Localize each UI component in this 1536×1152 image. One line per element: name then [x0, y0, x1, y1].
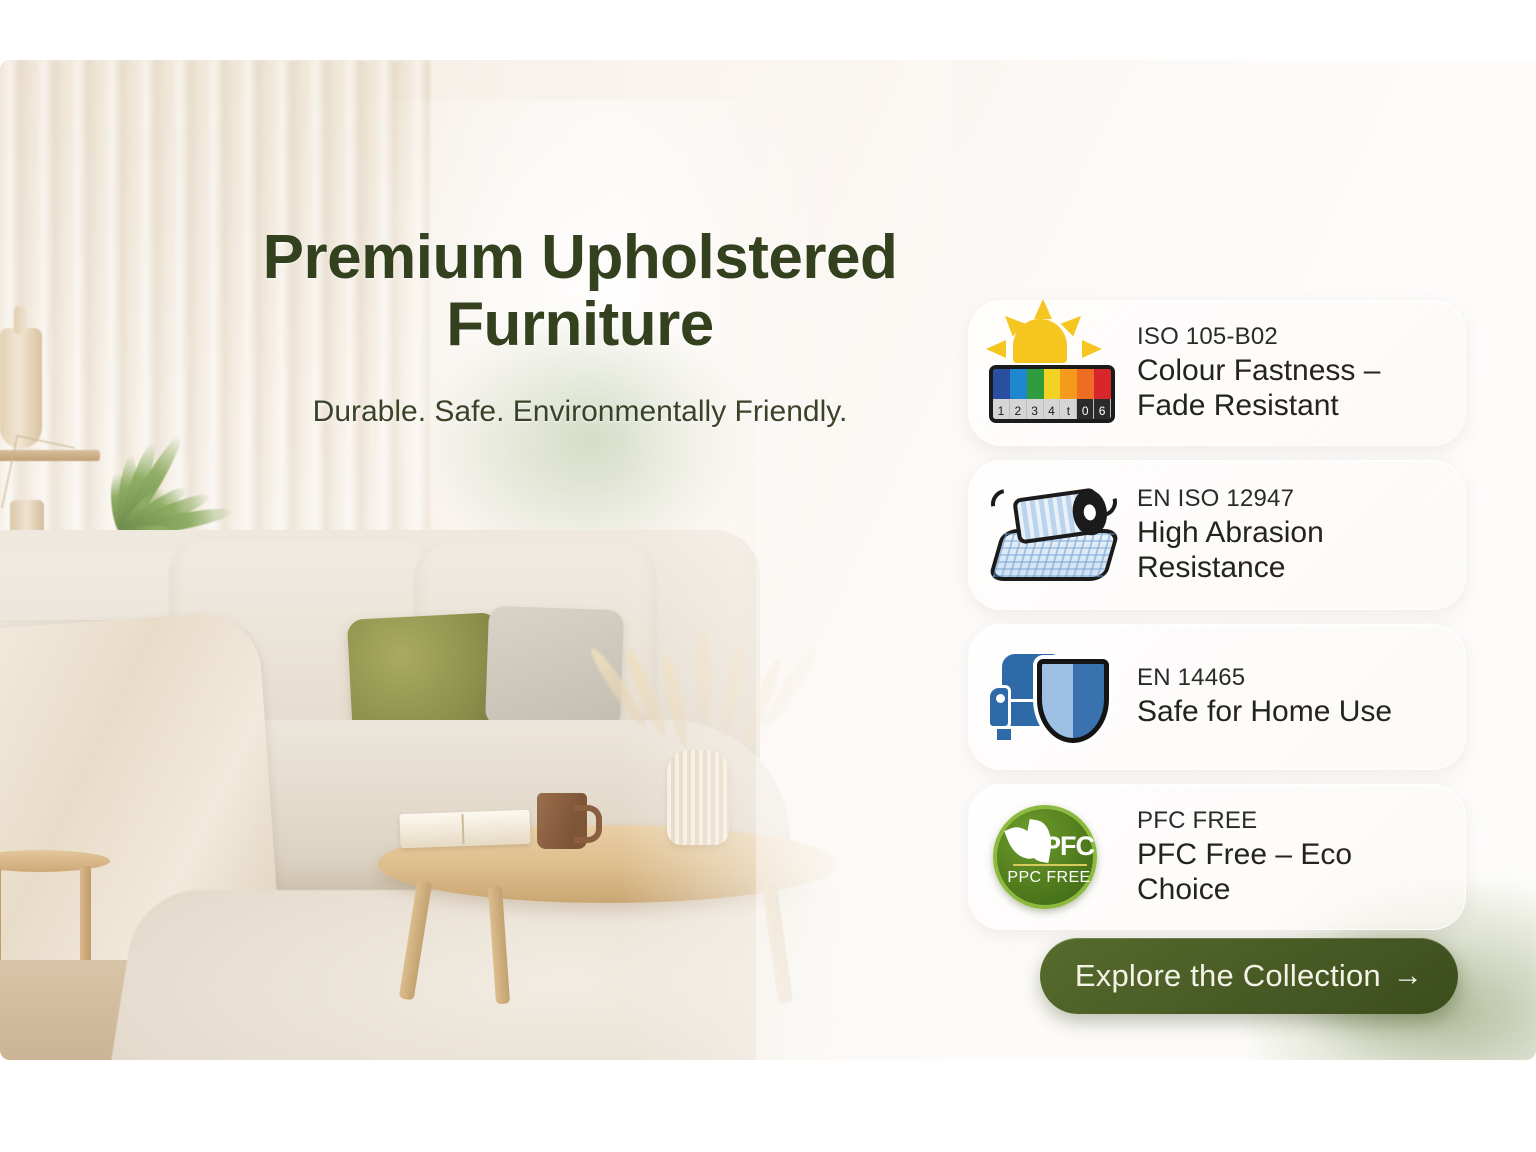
feature-card-list: 1234t06 ISO 105-B02 Colour Fastness – Fa…	[968, 300, 1466, 944]
coffee-mug	[537, 793, 587, 849]
feature-card-abrasion[interactable]: EN ISO 12947 High Abrasion Resistance	[968, 460, 1466, 610]
card-title-line-1: High Abrasion	[1137, 515, 1445, 550]
card-title-line-2: Resistance	[1137, 550, 1445, 585]
scale-number: 4	[1044, 399, 1061, 423]
feature-card-colour-fastness[interactable]: 1234t06 ISO 105-B02 Colour Fastness – Fa…	[968, 300, 1466, 446]
subheadline: Durable. Safe. Environmentally Friendly.	[200, 395, 960, 429]
scale-number: 3	[1027, 399, 1044, 423]
card-title: Safe for Home Use	[1137, 694, 1445, 729]
standard-label: EN 14465	[1137, 664, 1445, 692]
armchair-shield-icon	[989, 641, 1119, 753]
colour-scale-icon: 1234t06	[989, 365, 1115, 423]
scale-swatch	[1094, 369, 1111, 399]
armchair-arm	[987, 685, 1011, 729]
headline-line-2: Furniture	[200, 292, 960, 359]
card-title-line-2: Fade Resistant	[1137, 388, 1445, 423]
hero-banner: Premium Upholstered Furniture Durable. S…	[0, 60, 1536, 1060]
card-title: PFC Free – Eco Choice	[1137, 837, 1445, 908]
scale-number: 0	[1077, 399, 1094, 423]
shelf-vase	[0, 328, 42, 448]
standard-label: EN ISO 12947	[1137, 485, 1445, 513]
card-text: EN ISO 12947 High Abrasion Resistance	[1137, 485, 1445, 586]
page-title: Premium Upholstered Furniture	[200, 225, 960, 359]
scale-swatch	[993, 369, 1010, 399]
explore-collection-button[interactable]: Explore the Collection →	[1040, 938, 1458, 1014]
badge-divider	[1013, 864, 1087, 866]
standard-label: ISO 105-B02	[1137, 323, 1445, 351]
badge-text-small: PPC FREE	[997, 869, 1101, 887]
feature-card-safe-home-use[interactable]: EN 14465 Safe for Home Use	[968, 624, 1466, 770]
card-text: ISO 105-B02 Colour Fastness – Fade Resis…	[1137, 323, 1445, 424]
banner-page: Premium Upholstered Furniture Durable. S…	[0, 0, 1536, 1152]
card-text: EN 14465 Safe for Home Use	[1137, 664, 1445, 729]
sun-icon	[1013, 319, 1067, 363]
scale-swatch	[1027, 369, 1044, 399]
scale-number: 1	[993, 399, 1010, 423]
headline-block: Premium Upholstered Furniture Durable. S…	[200, 225, 960, 429]
armchair-foot	[997, 729, 1011, 740]
abrasion-roller-icon	[989, 479, 1119, 591]
scale-number: 2	[1010, 399, 1027, 423]
feature-card-pfc-free[interactable]: PFC PPC FREE PFC FREE PFC Free – Eco Cho…	[968, 784, 1466, 930]
pfc-free-badge-icon: PFC PPC FREE	[989, 801, 1119, 913]
headline-line-1: Premium Upholstered	[200, 225, 960, 292]
card-title-line-1: Colour Fastness –	[1137, 353, 1445, 388]
standard-label: PFC FREE	[1137, 807, 1445, 835]
pfc-badge: PFC PPC FREE	[993, 805, 1097, 909]
scale-number: t	[1060, 399, 1077, 423]
sun-colour-scale-icon: 1234t06	[989, 317, 1119, 429]
scale-swatch	[1060, 369, 1077, 399]
cta-label: Explore the Collection	[1075, 958, 1381, 994]
open-book	[399, 810, 530, 849]
scale-number: 6	[1094, 399, 1111, 423]
scale-swatch	[1077, 369, 1094, 399]
scale-swatch	[1010, 369, 1027, 399]
shield-icon	[1037, 659, 1109, 743]
card-text: PFC FREE PFC Free – Eco Choice	[1137, 807, 1445, 908]
scale-swatch	[1044, 369, 1061, 399]
card-title: High Abrasion Resistance	[1137, 515, 1445, 586]
card-title: Colour Fastness – Fade Resistant	[1137, 353, 1445, 424]
arrow-right-icon: →	[1393, 959, 1423, 993]
badge-text-large: PFC	[1043, 831, 1094, 862]
